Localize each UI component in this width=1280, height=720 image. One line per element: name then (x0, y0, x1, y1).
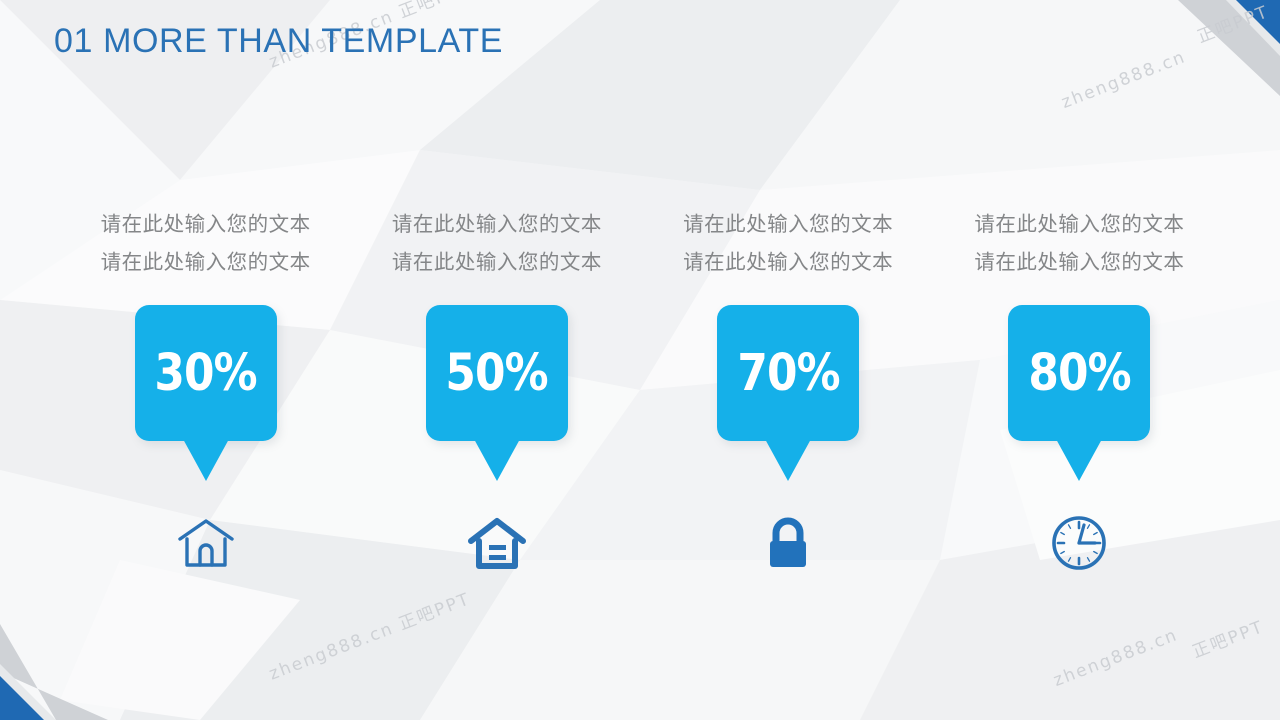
percent-bubble-2[interactable]: 50% (425, 305, 569, 485)
page-title: 01 MORE THAN TEMPLATE (54, 22, 503, 61)
column-text-line-1: 请在此处输入您的文本 (392, 205, 602, 243)
column-text-block: 请在此处输入您的文本 请在此处输入您的文本 (683, 205, 893, 281)
percent-bubble-3[interactable]: 70% (716, 305, 860, 485)
percent-bubble-4[interactable]: 80% (1007, 305, 1151, 485)
column-4: 请在此处输入您的文本 请在此处输入您的文本 80% (934, 205, 1225, 583)
house-outline-icon (166, 503, 246, 583)
column-text-line-2: 请在此处输入您的文本 (974, 243, 1184, 281)
bubble-tail (183, 439, 229, 481)
clock-icon (1039, 503, 1119, 583)
column-text-line-1: 请在此处输入您的文本 (683, 205, 893, 243)
bubble-tail (765, 439, 811, 481)
percent-value: 70% (737, 348, 839, 399)
percent-bubble-body: 80% (1008, 305, 1150, 441)
column-1: 请在此处输入您的文本 请在此处输入您的文本 30% (60, 205, 351, 583)
column-3: 请在此处输入您的文本 请在此处输入您的文本 70% (643, 205, 934, 583)
house-bars-icon (457, 503, 537, 583)
slide-canvas: zheng888.cn 正吧PPT zheng888.cn 正吧PPT zhen… (0, 0, 1280, 720)
percent-bubble-body: 70% (717, 305, 859, 441)
column-text-line-1: 请在此处输入您的文本 (974, 205, 1184, 243)
column-text-line-2: 请在此处输入您的文本 (392, 243, 602, 281)
column-text-line-2: 请在此处输入您的文本 (683, 243, 893, 281)
column-text-block: 请在此处输入您的文本 请在此处输入您的文本 (392, 205, 602, 281)
bubble-tail (1056, 439, 1102, 481)
column-text-line-2: 请在此处输入您的文本 (101, 243, 311, 281)
column-2: 请在此处输入您的文本 请在此处输入您的文本 50% (351, 205, 642, 583)
bubble-tail (474, 439, 520, 481)
percent-value: 80% (1028, 348, 1130, 399)
percent-bubble-1[interactable]: 30% (134, 305, 278, 485)
percent-value: 50% (446, 348, 548, 399)
percent-bubble-body: 50% (426, 305, 568, 441)
column-text-line-1: 请在此处输入您的文本 (101, 205, 311, 243)
column-text-block: 请在此处输入您的文本 请在此处输入您的文本 (101, 205, 311, 281)
percent-value: 30% (154, 348, 256, 399)
percent-bubble-body: 30% (135, 305, 277, 441)
column-text-block: 请在此处输入您的文本 请在此处输入您的文本 (974, 205, 1184, 281)
content-columns: 请在此处输入您的文本 请在此处输入您的文本 30% (60, 205, 1225, 583)
lock-icon (748, 503, 828, 583)
